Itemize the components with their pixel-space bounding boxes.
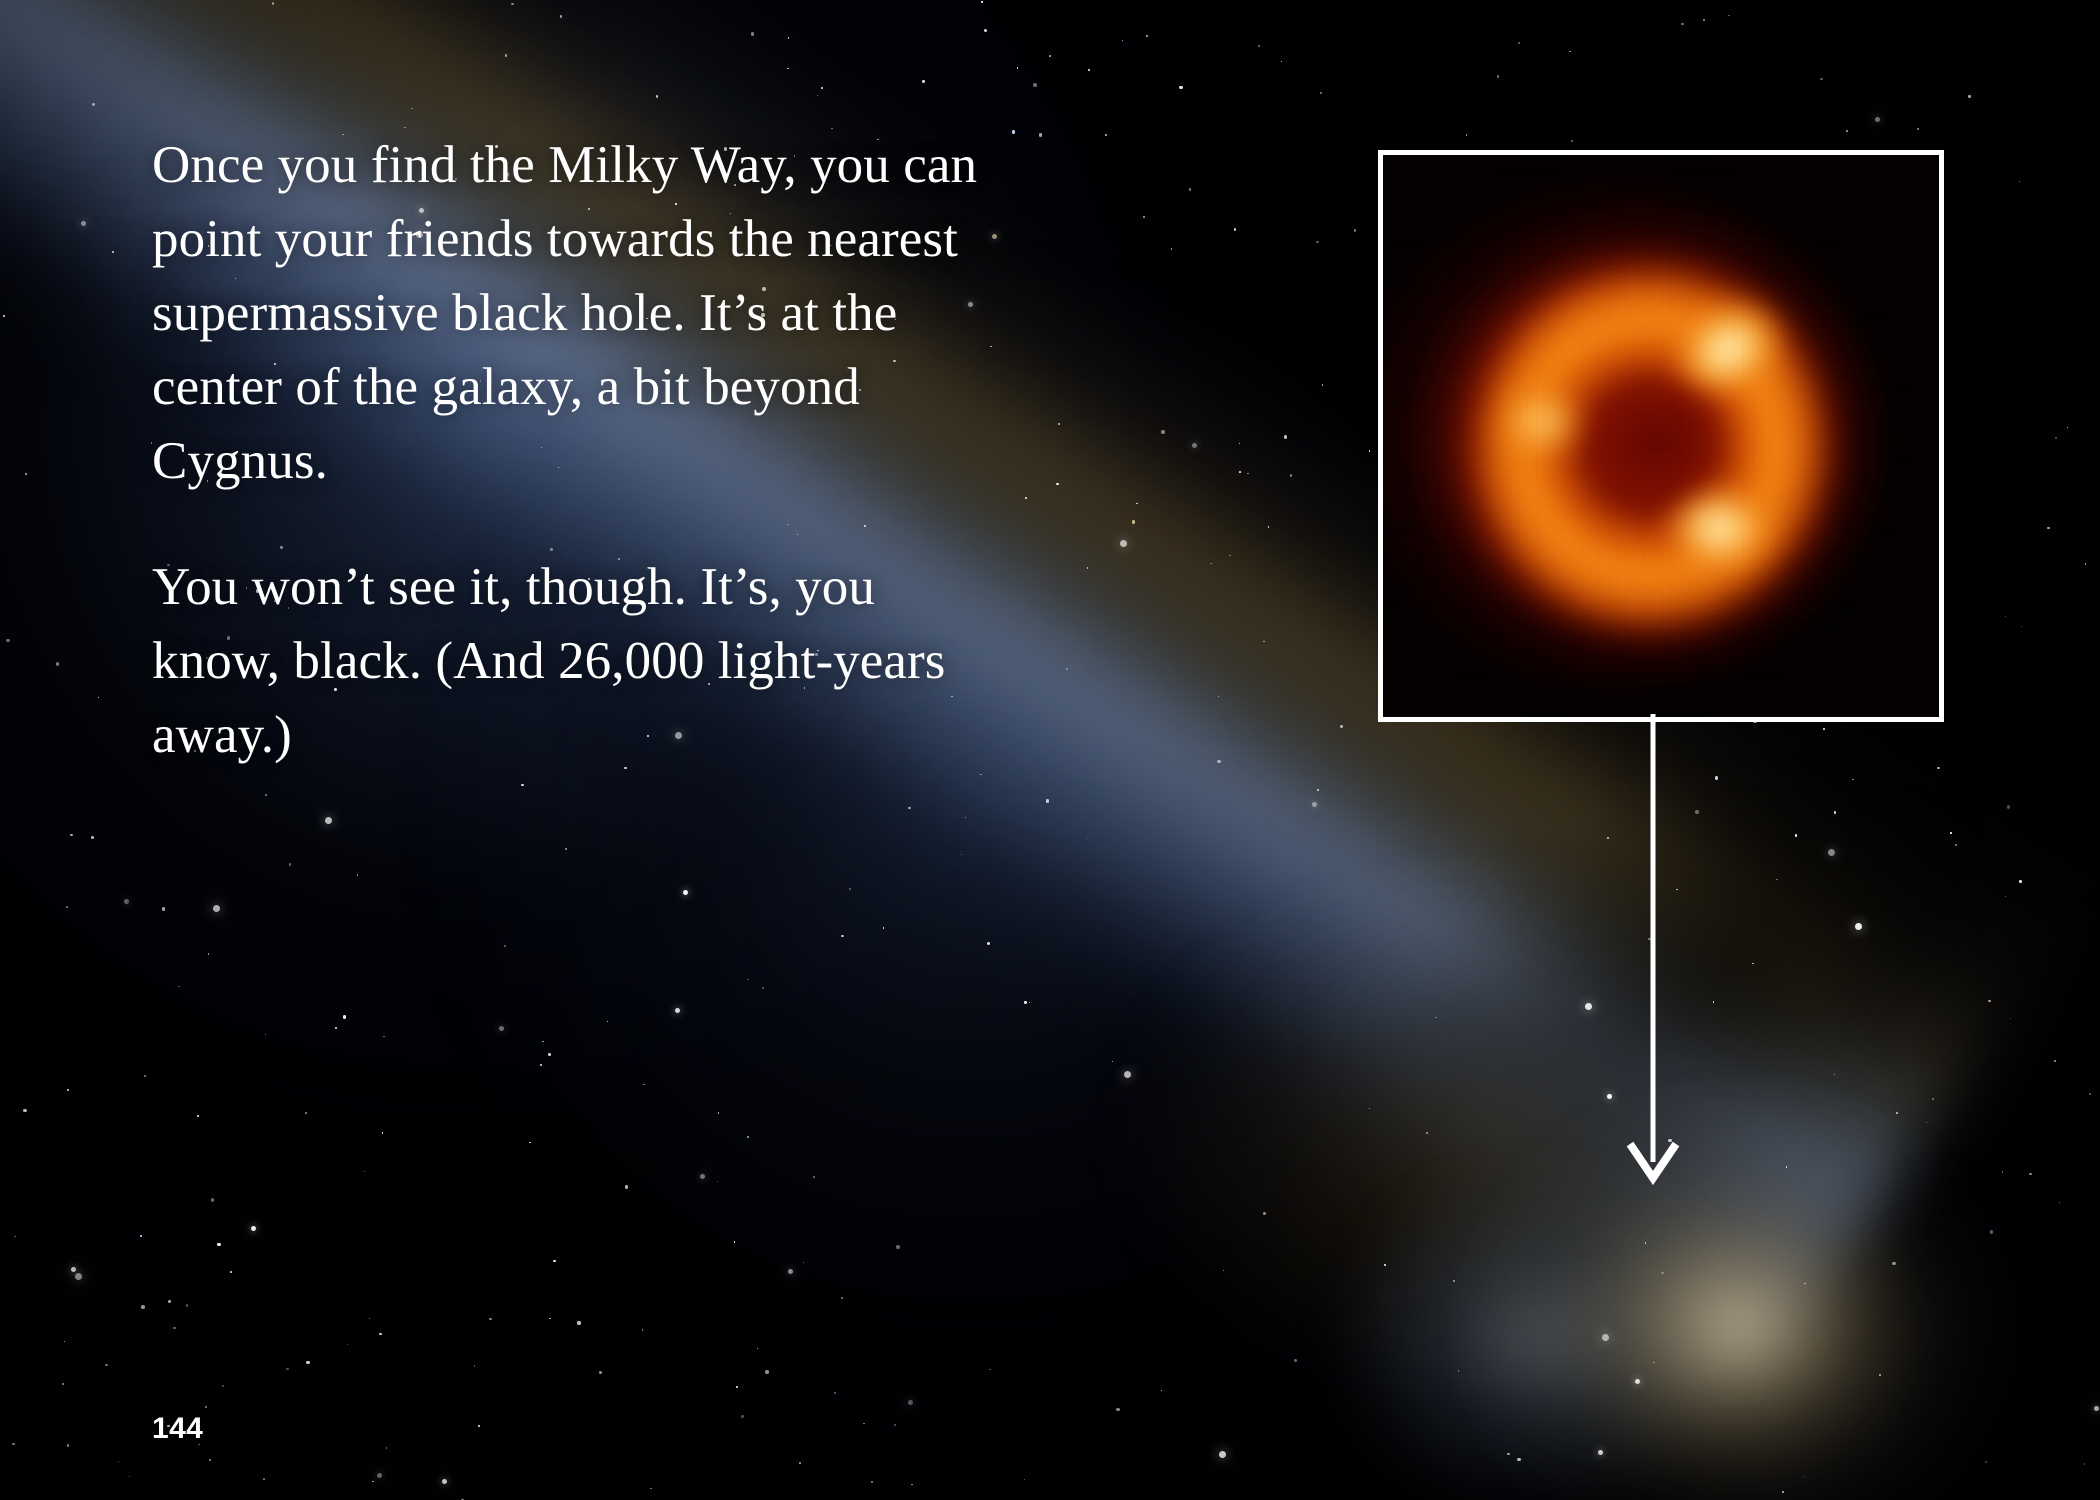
star xyxy=(1569,51,1571,53)
star xyxy=(2085,563,2087,565)
star xyxy=(1316,241,1318,243)
star xyxy=(347,1344,349,1346)
page-root: Once you find the Milky Way, you can poi… xyxy=(0,0,2100,1500)
star xyxy=(140,1235,142,1237)
star xyxy=(989,1369,991,1371)
star xyxy=(911,1484,913,1486)
star xyxy=(1875,117,1880,122)
star xyxy=(1258,45,1260,47)
star xyxy=(1320,92,1322,94)
star xyxy=(1116,1408,1120,1412)
star xyxy=(1281,61,1283,63)
star xyxy=(2047,527,2049,529)
star xyxy=(64,1341,66,1343)
star xyxy=(209,1459,211,1461)
paragraph-1: Once you find the Milky Way, you can poi… xyxy=(152,128,992,498)
star xyxy=(2059,1202,2061,1204)
star xyxy=(2055,437,2057,439)
star xyxy=(118,1461,120,1463)
star xyxy=(650,1488,652,1490)
star xyxy=(863,1423,865,1425)
star xyxy=(1968,95,1970,97)
star xyxy=(217,1243,221,1247)
star xyxy=(12,1443,14,1445)
page-number: 144 xyxy=(152,1412,203,1446)
star xyxy=(286,1368,288,1370)
star xyxy=(1466,134,1468,136)
star xyxy=(2094,1406,2099,1411)
star xyxy=(377,1473,382,1478)
star xyxy=(871,1481,873,1483)
galactic-center-glow xyxy=(1460,1090,2020,1500)
star xyxy=(168,1300,170,1302)
star xyxy=(908,1400,913,1405)
star xyxy=(1518,42,1520,44)
star xyxy=(799,1462,801,1464)
star xyxy=(834,1392,836,1394)
star xyxy=(230,1271,232,1273)
star xyxy=(2019,181,2021,183)
star xyxy=(1728,15,1730,17)
star xyxy=(2054,1060,2056,1062)
star xyxy=(141,1305,145,1309)
black-hole-image xyxy=(1383,155,1939,717)
star xyxy=(1354,229,1356,231)
star xyxy=(186,1304,188,1306)
star xyxy=(105,1364,107,1366)
star xyxy=(474,1365,476,1367)
star xyxy=(62,1383,64,1385)
star xyxy=(263,1478,265,1480)
star xyxy=(1820,78,1822,80)
star xyxy=(736,1386,738,1388)
star xyxy=(1703,19,1705,21)
star xyxy=(306,1361,310,1365)
star xyxy=(372,1481,374,1483)
black-hole-inset-frame xyxy=(1378,150,1944,722)
star xyxy=(14,1236,16,1238)
star xyxy=(478,1425,480,1427)
star xyxy=(599,1371,603,1375)
star xyxy=(2084,1463,2086,1465)
star xyxy=(71,1267,76,1272)
star xyxy=(442,1479,447,1484)
star xyxy=(2029,1173,2031,1175)
star xyxy=(173,1327,175,1329)
star xyxy=(379,1333,381,1335)
star xyxy=(894,1424,896,1426)
paragraph-2: You won’t see it, though. It’s, you know… xyxy=(152,550,992,772)
star xyxy=(251,1226,256,1231)
star xyxy=(2067,427,2069,429)
star xyxy=(386,1447,388,1449)
star xyxy=(1571,140,1573,142)
star xyxy=(765,1370,769,1374)
star xyxy=(1917,128,1919,130)
star xyxy=(1681,23,1683,25)
star xyxy=(1497,75,1499,77)
star xyxy=(1846,130,1848,132)
star xyxy=(741,1415,745,1419)
body-copy: Once you find the Milky Way, you can poi… xyxy=(152,128,992,772)
star xyxy=(75,1273,82,1280)
star xyxy=(369,1318,371,1320)
star xyxy=(205,1406,207,1408)
pointer-arrow xyxy=(1600,714,1720,1194)
star xyxy=(129,1476,131,1478)
star xyxy=(2089,1093,2091,1095)
ring-hotspot-left xyxy=(1494,380,1589,464)
star xyxy=(67,1444,69,1446)
star xyxy=(1024,1479,1026,1481)
star xyxy=(1219,1451,1226,1458)
star xyxy=(222,1385,224,1387)
star xyxy=(211,1198,215,1202)
